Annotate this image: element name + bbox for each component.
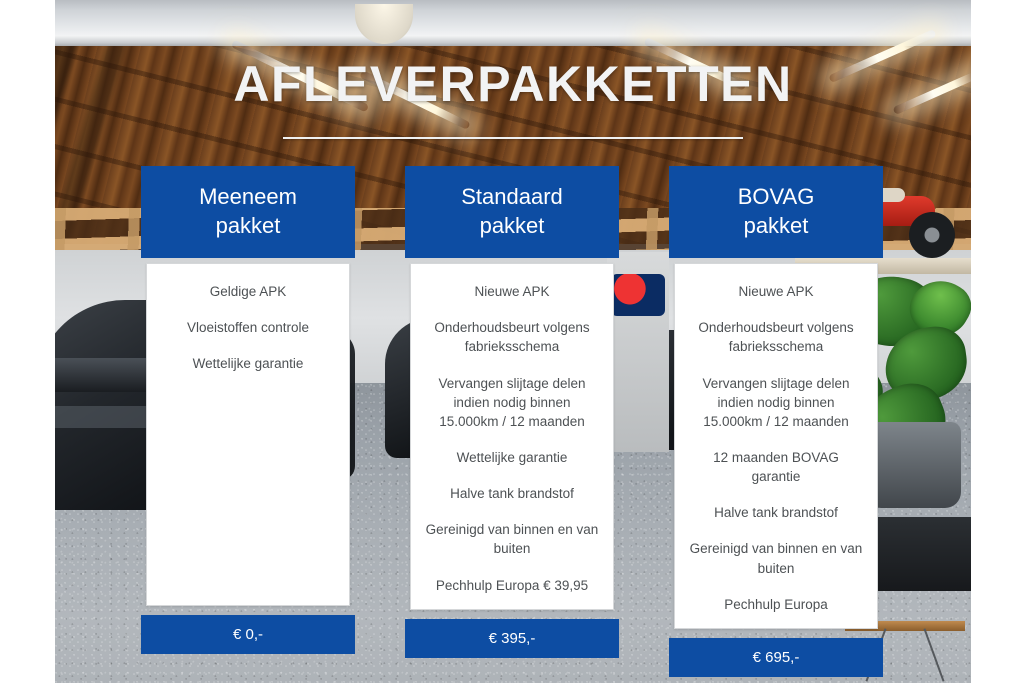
page-title: AFLEVERPAKKETTEN	[55, 58, 971, 111]
list-item: Wettelijke garantie	[159, 354, 337, 373]
card-header: BOVAG pakket	[669, 166, 883, 258]
list-item: Gereinigd van binnen en van buiten	[423, 520, 601, 558]
list-item: Geldige APK	[159, 282, 337, 301]
slide-root: AFLEVERPAKKETTEN Meeneem pakket Geldige …	[0, 0, 1024, 683]
card-title-line1: Meeneem	[149, 182, 347, 211]
pricing-card-meeneem[interactable]: Meeneem pakket Geldige APK Vloeistoffen …	[141, 166, 355, 677]
list-item: Gereinigd van binnen en van buiten	[687, 539, 865, 577]
card-title-line2: pakket	[413, 211, 611, 240]
card-title-line1: BOVAG	[677, 182, 875, 211]
list-item: Nieuwe APK	[687, 282, 865, 301]
list-item: Vervangen slijtage delen indien nodig bi…	[423, 374, 601, 431]
list-item: Wettelijke garantie	[423, 448, 601, 467]
list-item: 12 maanden BOVAG garantie	[687, 448, 865, 486]
pricing-cards: Meeneem pakket Geldige APK Vloeistoffen …	[0, 166, 1024, 677]
card-feature-list: Geldige APK Vloeistoffen controle Wettel…	[146, 263, 350, 606]
card-header: Meeneem pakket	[141, 166, 355, 258]
list-item: Vervangen slijtage delen indien nodig bi…	[687, 374, 865, 431]
list-item: Nieuwe APK	[423, 282, 601, 301]
title-divider	[283, 137, 743, 139]
card-price[interactable]: € 395,-	[405, 619, 619, 658]
list-item: Halve tank brandstof	[687, 503, 865, 522]
card-price[interactable]: € 0,-	[141, 615, 355, 654]
card-title-line2: pakket	[149, 211, 347, 240]
page-title-block: AFLEVERPAKKETTEN	[55, 58, 971, 139]
list-item: Vloeistoffen controle	[159, 318, 337, 337]
card-title-line2: pakket	[677, 211, 875, 240]
list-item: Pechhulp Europa	[687, 595, 865, 614]
list-item: Onderhoudsbeurt volgens fabrieksschema	[423, 318, 601, 356]
white-ceiling-band	[55, 0, 971, 46]
list-item: Pechhulp Europa € 39,95	[423, 576, 601, 595]
list-item: Halve tank brandstof	[423, 484, 601, 503]
card-header: Standaard pakket	[405, 166, 619, 258]
list-item: Onderhoudsbeurt volgens fabrieksschema	[687, 318, 865, 356]
card-feature-list: Nieuwe APK Onderhoudsbeurt volgens fabri…	[674, 263, 878, 629]
card-price[interactable]: € 695,-	[669, 638, 883, 677]
card-title-line1: Standaard	[413, 182, 611, 211]
pricing-card-bovag[interactable]: BOVAG pakket Nieuwe APK Onderhoudsbeurt …	[669, 166, 883, 677]
card-feature-list: Nieuwe APK Onderhoudsbeurt volgens fabri…	[410, 263, 614, 610]
pricing-card-standaard[interactable]: Standaard pakket Nieuwe APK Onderhoudsbe…	[405, 166, 619, 677]
